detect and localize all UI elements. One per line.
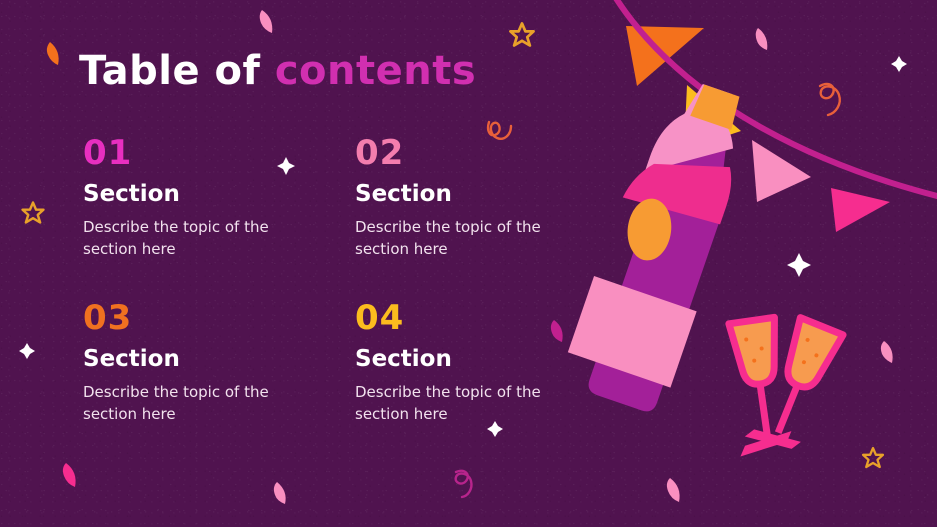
toc-item-number: 04 bbox=[355, 301, 620, 335]
confetti-pink-right bbox=[881, 341, 893, 363]
confetti-pink-bottom bbox=[667, 478, 680, 502]
glass-left-stem bbox=[756, 383, 770, 437]
page-title-pink-part: contents bbox=[275, 48, 476, 94]
sparkle-icon-2 bbox=[787, 253, 811, 277]
champagne-glasses-icon bbox=[722, 315, 844, 457]
bottle-cap bbox=[690, 83, 742, 129]
squiggle-orange-2 bbox=[820, 84, 840, 115]
star-icon-top bbox=[510, 23, 533, 45]
glass-left-base bbox=[738, 431, 794, 456]
toc-item-01[interactable]: 01 Section Describe the topic of the sec… bbox=[83, 136, 348, 261]
squiggle-magenta-1 bbox=[456, 471, 472, 497]
page-title-white-part: Table of bbox=[79, 48, 275, 94]
confetti-pink-midleft bbox=[274, 482, 286, 504]
confetti-pink-left bbox=[63, 463, 76, 487]
bottle-label bbox=[624, 196, 675, 263]
toc-item-number: 03 bbox=[83, 301, 348, 335]
confetti-pink-top bbox=[260, 10, 273, 33]
page-title: Table of contents bbox=[79, 48, 476, 94]
toc-item-heading: Section bbox=[355, 183, 620, 206]
toc-item-number: 01 bbox=[83, 136, 348, 170]
bunting-string bbox=[612, 0, 937, 196]
bunting-flags bbox=[626, 26, 890, 232]
sparkle-icon-4 bbox=[19, 343, 35, 359]
toc-item-description: Describe the topic of the section here bbox=[83, 217, 283, 261]
bunting-flag-hotpink bbox=[831, 188, 890, 232]
glass-right-bowl bbox=[776, 318, 843, 395]
toc-item-03[interactable]: 03 Section Describe the topic of the sec… bbox=[83, 301, 348, 426]
bunting-flag-orange bbox=[626, 26, 704, 86]
toc-item-heading: Section bbox=[83, 183, 348, 206]
confetti-lightpink-bunting bbox=[756, 28, 768, 50]
glass-left-bowl bbox=[729, 317, 783, 387]
slide-canvas: Table of contents 01 Section Describe th… bbox=[0, 0, 937, 527]
star-icon-bottom-right bbox=[863, 448, 883, 467]
toc-item-description: Describe the topic of the section here bbox=[355, 382, 555, 426]
toc-item-description: Describe the topic of the section here bbox=[355, 217, 555, 261]
bottle-upper-band bbox=[623, 137, 739, 230]
glass-right-stem bbox=[775, 383, 801, 434]
glass-right-base bbox=[745, 422, 801, 457]
sparkle-icon-3 bbox=[891, 56, 907, 72]
bottle-neck bbox=[645, 75, 750, 196]
toc-item-heading: Section bbox=[83, 348, 348, 371]
star-icon-left bbox=[23, 203, 44, 223]
toc-item-04[interactable]: 04 Section Describe the topic of the sec… bbox=[355, 301, 620, 426]
toc-item-heading: Section bbox=[355, 348, 620, 371]
toc-item-02[interactable]: 02 Section Describe the topic of the sec… bbox=[355, 136, 620, 261]
toc-item-number: 02 bbox=[355, 136, 620, 170]
bunting-flag-yellow bbox=[684, 85, 741, 150]
toc-item-description: Describe the topic of the section here bbox=[83, 382, 283, 426]
confetti-orange-topleft bbox=[47, 42, 59, 65]
bunting-flag-lightpink bbox=[752, 140, 811, 202]
